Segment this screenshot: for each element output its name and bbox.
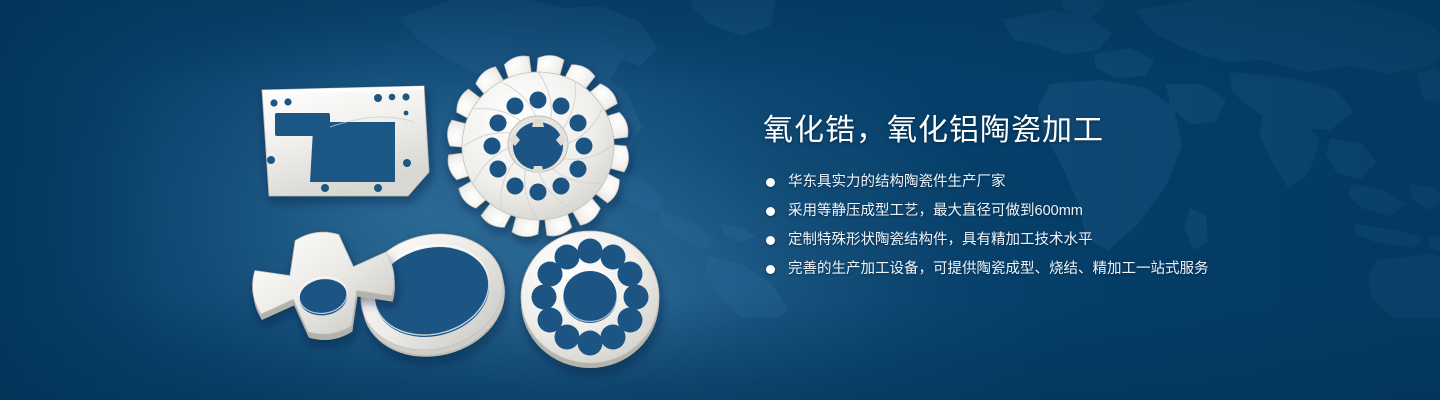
ceramic-impeller-part [444, 52, 631, 239]
list-item: 华东具实力的结构陶瓷件生产厂家 [766, 172, 1383, 192]
ceramic-products-image [0, 0, 720, 400]
feature-text: 采用等静压成型工艺，最大直径可做到600mm [788, 201, 1083, 221]
bullet-dot-icon [766, 178, 775, 187]
list-item: 定制特殊形状陶瓷结构件，具有精加工技术水平 [766, 230, 1383, 250]
list-item: 完善的生产加工设备，可提供陶瓷成型、烧结、精加工一站式服务 [766, 259, 1383, 279]
bullet-dot-icon [766, 265, 775, 274]
feature-text: 定制特殊形状陶瓷结构件，具有精加工技术水平 [788, 230, 1093, 250]
banner-feature-list: 华东具实力的结构陶瓷件生产厂家 采用等静压成型工艺，最大直径可做到600mm 定… [766, 172, 1383, 279]
feature-text: 完善的生产加工设备，可提供陶瓷成型、烧结、精加工一站式服务 [788, 259, 1209, 279]
banner-copy: 氧化锆，氧化铝陶瓷加工 华东具实力的结构陶瓷件生产厂家 采用等静压成型工艺，最大… [763, 112, 1383, 288]
ceramic-plate-part [262, 86, 429, 196]
banner-headline: 氧化锆，氧化铝陶瓷加工 [763, 112, 1383, 150]
feature-text: 华东具实力的结构陶瓷件生产厂家 [788, 172, 1006, 192]
promo-banner: 氧化锆，氧化铝陶瓷加工 华东具实力的结构陶瓷件生产厂家 采用等静压成型工艺，最大… [0, 0, 1440, 400]
list-item: 采用等静压成型工艺，最大直径可做到600mm [766, 201, 1383, 221]
ceramic-perforated-disc-part [521, 231, 659, 368]
bullet-dot-icon [766, 236, 775, 245]
bullet-dot-icon [766, 207, 775, 216]
